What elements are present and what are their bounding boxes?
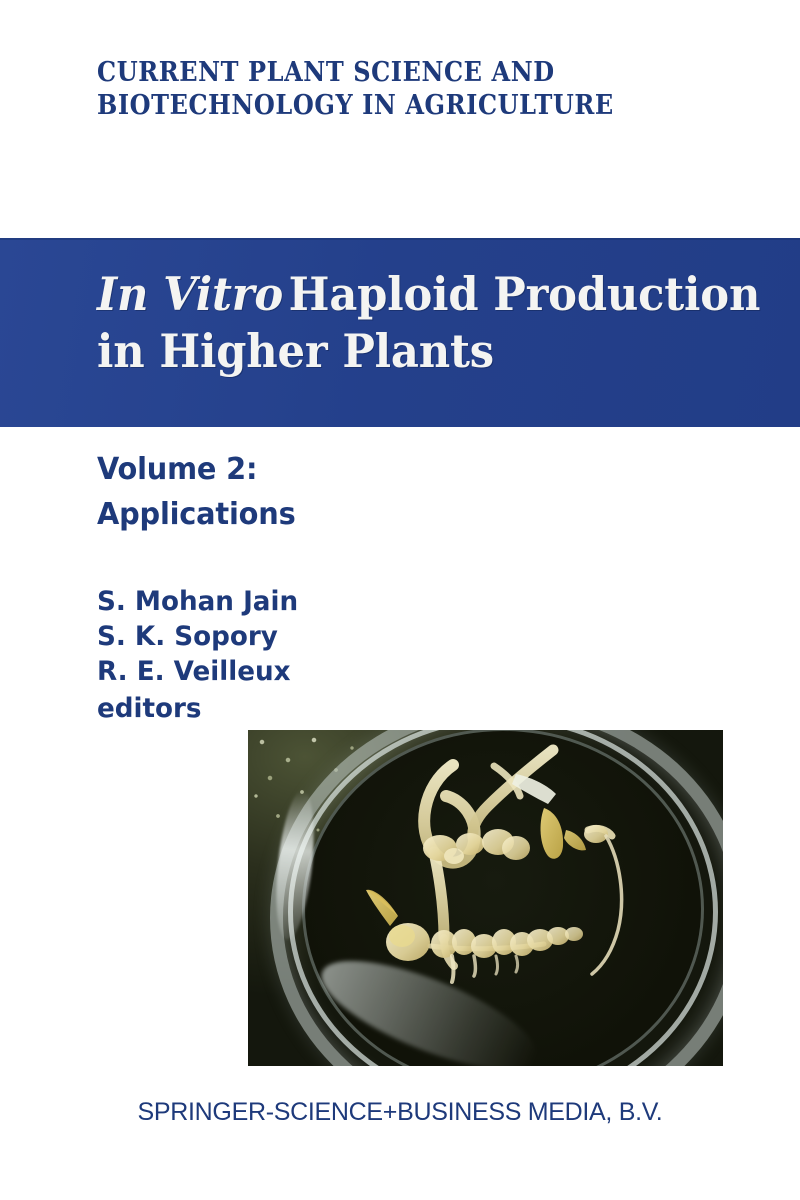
- title-band-top-edge: [0, 238, 800, 240]
- plantlets-illustration: [248, 730, 723, 1066]
- volume-block: Volume 2: Applications: [97, 447, 296, 537]
- volume-subtitle: Applications: [97, 492, 296, 537]
- title-band: In VitroHaploid Production in Higher Pla…: [0, 238, 800, 427]
- book-title-line-1: In VitroHaploid Production: [97, 266, 746, 323]
- book-title-line-1-rest: Haploid Production: [289, 267, 761, 321]
- book-cover: CURRENT PLANT SCIENCE AND BIOTECHNOLOGY …: [0, 0, 800, 1200]
- editors-block: S. Mohan Jain S. K. Sopory R. E. Veilleu…: [97, 584, 298, 726]
- editor-name-2: S. K. Sopory: [97, 619, 298, 654]
- book-title-italic-part: In Vitro: [97, 267, 289, 321]
- editor-name-3: R. E. Veilleux: [97, 654, 298, 689]
- volume-number: Volume 2:: [97, 447, 296, 492]
- cover-photo: [248, 730, 723, 1066]
- editor-name-1: S. Mohan Jain: [97, 584, 298, 619]
- book-title: In VitroHaploid Production in Higher Pla…: [97, 266, 746, 380]
- series-header-line-2: BIOTECHNOLOGY IN AGRICULTURE: [97, 89, 737, 122]
- publisher-name: SPRINGER-SCIENCE+BUSINESS MEDIA, B.V.: [0, 1098, 800, 1127]
- series-header: CURRENT PLANT SCIENCE AND BIOTECHNOLOGY …: [97, 56, 737, 122]
- book-title-line-2: in Higher Plants: [97, 323, 746, 380]
- series-header-line-1: CURRENT PLANT SCIENCE AND: [97, 56, 737, 89]
- editors-role-label: editors: [97, 689, 298, 726]
